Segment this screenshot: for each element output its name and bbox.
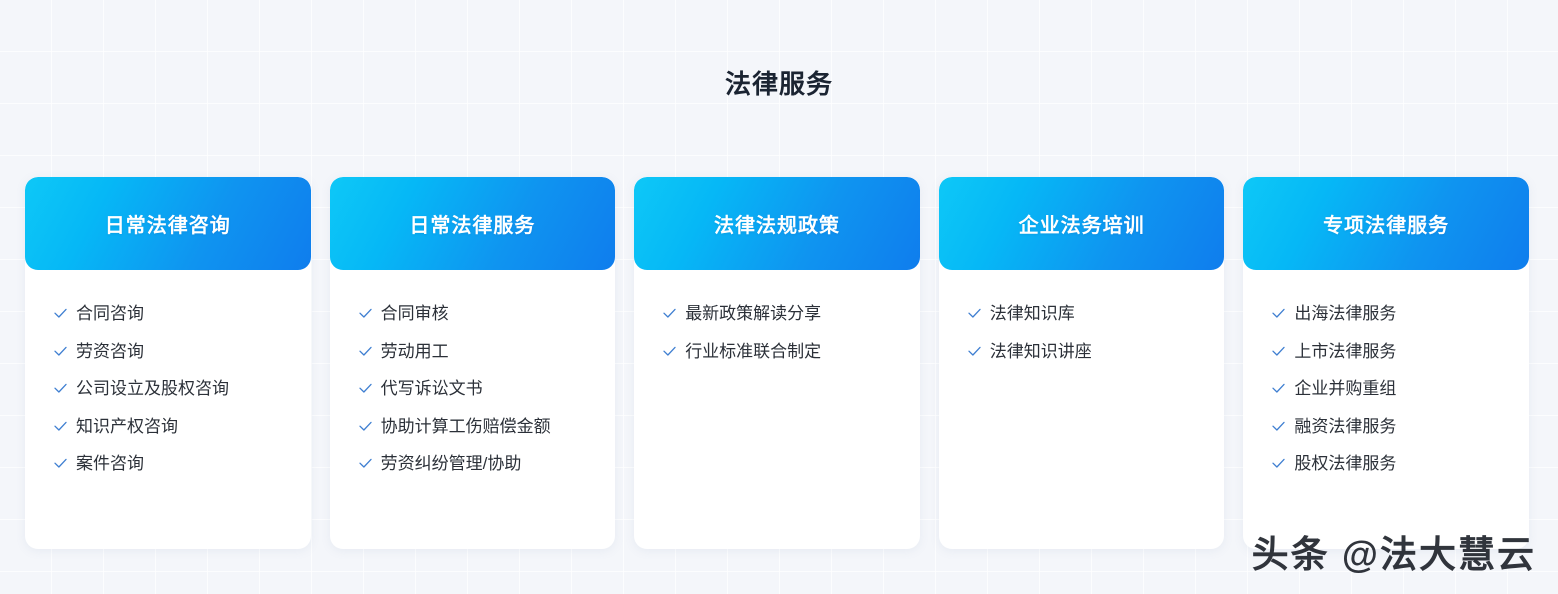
feature-label: 代写诉讼文书: [381, 380, 483, 397]
service-card[interactable]: 专项法律服务出海法律服务上市法律服务企业并购重组融资法律服务股权法律服务: [1243, 177, 1529, 549]
feature-label: 公司设立及股权咨询: [76, 380, 229, 397]
service-card-header: 日常法律服务: [330, 177, 616, 270]
feature-item[interactable]: 公司设立及股权咨询: [25, 370, 311, 408]
service-card-header: 日常法律咨询: [25, 177, 311, 270]
service-card[interactable]: 日常法律服务合同审核劳动用工代写诉讼文书协助计算工伤赔偿金额劳资纠纷管理/协助: [330, 177, 616, 549]
feature-item[interactable]: 代写诉讼文书: [330, 370, 616, 408]
service-card-header: 专项法律服务: [1243, 177, 1529, 270]
check-icon: [358, 306, 373, 321]
feature-item[interactable]: 协助计算工伤赔偿金额: [330, 408, 616, 446]
service-card-body: 合同咨询劳资咨询公司设立及股权咨询知识产权咨询案件咨询: [25, 270, 311, 549]
feature-label: 合同咨询: [76, 305, 144, 322]
check-icon: [1271, 344, 1286, 359]
watermark: 头条 @法大慧云: [1252, 524, 1536, 578]
feature-item[interactable]: 劳资纠纷管理/协助: [330, 445, 616, 483]
feature-label: 劳资纠纷管理/协助: [381, 455, 522, 472]
service-card-header: 企业法务培训: [939, 177, 1225, 270]
feature-item[interactable]: 股权法律服务: [1243, 445, 1529, 483]
feature-label: 劳动用工: [381, 343, 449, 360]
feature-item[interactable]: 出海法律服务: [1243, 295, 1529, 333]
feature-label: 股权法律服务: [1294, 455, 1396, 472]
feature-item[interactable]: 融资法律服务: [1243, 408, 1529, 446]
service-card-title: 专项法律服务: [1323, 209, 1449, 238]
check-icon: [1271, 456, 1286, 471]
check-icon: [358, 419, 373, 434]
feature-item[interactable]: 劳资咨询: [25, 333, 311, 371]
check-icon: [967, 344, 982, 359]
feature-item[interactable]: 劳动用工: [330, 333, 616, 371]
feature-item[interactable]: 知识产权咨询: [25, 408, 311, 446]
service-card-body: 合同审核劳动用工代写诉讼文书协助计算工伤赔偿金额劳资纠纷管理/协助: [330, 270, 616, 549]
feature-item[interactable]: 行业标准联合制定: [634, 333, 920, 371]
check-icon: [1271, 419, 1286, 434]
check-icon: [358, 456, 373, 471]
check-icon: [53, 381, 68, 396]
feature-item[interactable]: 合同审核: [330, 295, 616, 333]
check-icon: [1271, 381, 1286, 396]
service-card-body: 法律知识库法律知识讲座: [939, 270, 1225, 549]
feature-label: 融资法律服务: [1294, 418, 1396, 435]
service-card-list: 日常法律咨询合同咨询劳资咨询公司设立及股权咨询知识产权咨询案件咨询日常法律服务合…: [25, 177, 1529, 549]
feature-label: 案件咨询: [76, 455, 144, 472]
feature-item[interactable]: 法律知识库: [939, 295, 1225, 333]
check-icon: [967, 306, 982, 321]
feature-item[interactable]: 上市法律服务: [1243, 333, 1529, 371]
feature-label: 协助计算工伤赔偿金额: [381, 418, 551, 435]
service-card[interactable]: 法律法规政策最新政策解读分享行业标准联合制定: [634, 177, 920, 549]
check-icon: [53, 419, 68, 434]
service-card-title: 日常法律服务: [409, 209, 535, 238]
feature-item[interactable]: 企业并购重组: [1243, 370, 1529, 408]
check-icon: [358, 381, 373, 396]
feature-label: 行业标准联合制定: [685, 343, 821, 360]
check-icon: [358, 344, 373, 359]
check-icon: [53, 456, 68, 471]
service-card-title: 企业法务培训: [1019, 209, 1145, 238]
feature-label: 企业并购重组: [1294, 380, 1396, 397]
service-card[interactable]: 企业法务培训法律知识库法律知识讲座: [939, 177, 1225, 549]
service-card-title: 法律法规政策: [714, 209, 840, 238]
check-icon: [53, 306, 68, 321]
feature-label: 劳资咨询: [76, 343, 144, 360]
feature-item[interactable]: 法律知识讲座: [939, 333, 1225, 371]
feature-label: 法律知识讲座: [990, 343, 1092, 360]
check-icon: [53, 344, 68, 359]
service-card-title: 日常法律咨询: [105, 209, 231, 238]
check-icon: [1271, 306, 1286, 321]
feature-label: 最新政策解读分享: [685, 305, 821, 322]
feature-label: 知识产权咨询: [76, 418, 178, 435]
feature-item[interactable]: 案件咨询: [25, 445, 311, 483]
service-card[interactable]: 日常法律咨询合同咨询劳资咨询公司设立及股权咨询知识产权咨询案件咨询: [25, 177, 311, 549]
feature-item[interactable]: 合同咨询: [25, 295, 311, 333]
feature-label: 法律知识库: [990, 305, 1075, 322]
check-icon: [662, 306, 677, 321]
service-card-body: 出海法律服务上市法律服务企业并购重组融资法律服务股权法律服务: [1243, 270, 1529, 549]
feature-label: 出海法律服务: [1294, 305, 1396, 322]
feature-label: 上市法律服务: [1294, 343, 1396, 360]
feature-label: 合同审核: [381, 305, 449, 322]
service-card-body: 最新政策解读分享行业标准联合制定: [634, 270, 920, 549]
check-icon: [662, 344, 677, 359]
page-title: 法律服务: [0, 64, 1558, 101]
feature-item[interactable]: 最新政策解读分享: [634, 295, 920, 333]
service-card-header: 法律法规政策: [634, 177, 920, 270]
